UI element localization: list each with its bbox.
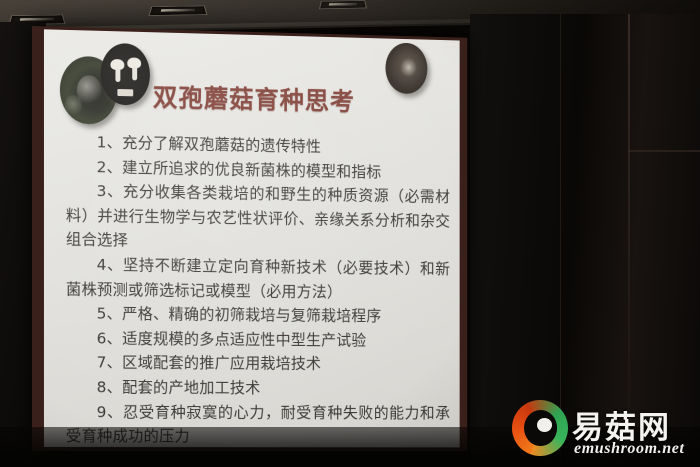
watermark-domain: emushroom.net [574, 440, 685, 458]
site-watermark: 易菇网 emushroom.net [512, 398, 692, 462]
bullet-item: 7、区域配套的推广应用栽培技术 [66, 351, 450, 378]
photo-scene: 双孢蘑菇育种思考 1、充分了解双孢蘑菇的遗传特性 2、建立所追求的优良新菌株的模… [0, 0, 700, 467]
wall-panel-band [628, 150, 700, 152]
bullet-item: 8、配套的产地加工技术 [66, 375, 450, 401]
bullet-item: 3、充分收集各类栽培的和野生的种质资源（必需材料）并进行生物学与农艺性状评价、亲… [66, 179, 450, 258]
logo-highlight-dot [537, 418, 552, 432]
bullet-item: 6、适度规模的多点适应性中型生产试验 [66, 326, 450, 353]
bullet-item: 5、严格、精确的初筛栽培与复筛栽培程序 [66, 301, 450, 329]
bullet-item: 4、坚持不断建立定向育种新技术（必要技术）和新菌株预测或筛选标记或模型（必用方法… [66, 252, 450, 305]
presentation-slide: 双孢蘑菇育种思考 1、充分了解双孢蘑菇的遗传特性 2、建立所追求的优良新菌株的模… [44, 29, 460, 447]
projection-screen-frame: 双孢蘑菇育种思考 1、充分了解双孢蘑菇的遗传特性 2、建立所追求的优良新菌株的模… [32, 26, 467, 451]
projection-screen: 双孢蘑菇育种思考 1、充分了解双孢蘑菇的遗传特性 2、建立所追求的优良新菌株的模… [44, 29, 460, 447]
slide-bullet-list: 1、充分了解双孢蘑菇的遗传特性 2、建立所追求的优良新菌株的模型和指标 3、充分… [66, 130, 450, 448]
ceiling-light-fixture [149, 6, 208, 16]
ceiling-light-fixture [319, 0, 367, 9]
